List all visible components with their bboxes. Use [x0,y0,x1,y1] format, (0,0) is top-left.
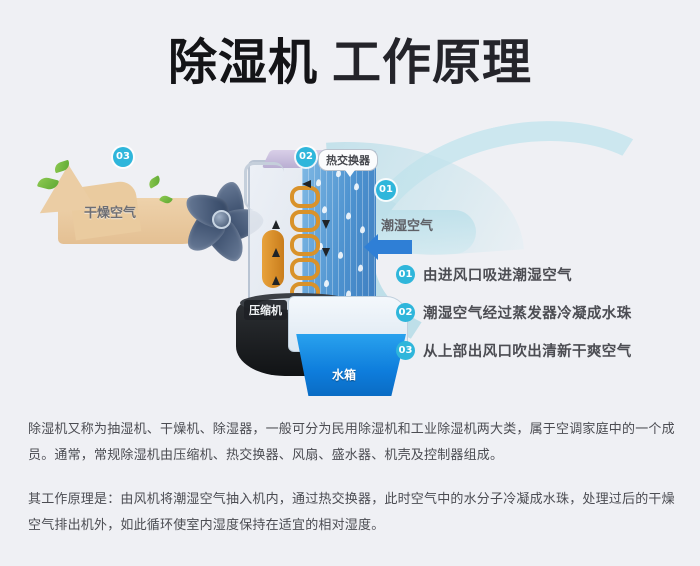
description-block: 除湿机又称为抽湿机、干燥机、除湿器，一般可分为民用除湿机和工业除湿机两大类，属于… [28,417,678,539]
description-paragraph-2: 其工作原理是：由风机将潮湿空气抽入机内，通过热交换器，此时空气中的水分子冷凝成水… [28,487,678,539]
legend-item-03: 03 从上部出风口吹出清新干爽空气 [396,331,686,369]
legend-item-01: 01 由进风口吸进潮湿空气 [396,255,686,293]
legend-badge-02: 02 [396,303,415,322]
legend-text-02: 潮湿空气经过蒸发器冷凝成水珠 [423,302,632,323]
badge-02-heat-exchanger: 02 [296,147,316,167]
refrigerant-coils [258,184,340,306]
page-title-part-a: 除湿机 [168,34,318,91]
legend-item-02: 02 潮湿空气经过蒸发器冷凝成水珠 [396,293,686,331]
page-title-part-b: 工作原理 [332,34,532,91]
description-paragraph-1: 除湿机又称为抽湿机、干燥机、除湿器，一般可分为民用除湿机和工业除湿机两大类，属于… [28,417,678,469]
infographic-page: 除湿机工作原理 干燥空气 03 [0,0,700,566]
page-title: 除湿机工作原理 [0,34,700,92]
legend-badge-03: 03 [396,341,415,360]
heat-exchanger-callout: 热交换器 [318,149,378,171]
legend-badge-01: 01 [396,265,415,284]
moist-air-label: 潮湿空气 [381,215,433,234]
legend-text-03: 从上部出风口吹出清新干爽空气 [423,340,632,361]
dry-air-label: 干燥空气 [84,202,136,221]
compressor-label: 压缩机 [244,300,287,320]
legend-text-01: 由进风口吸进潮湿空气 [423,264,572,285]
process-legend: 01 由进风口吸进潮湿空气 02 潮湿空气经过蒸发器冷凝成水珠 03 从上部出风… [396,255,686,369]
water-tank-label: 水箱 [332,366,356,383]
fan-hub [212,210,231,229]
inlet-airflow-arrow [378,240,412,254]
badge-01-moist-air: 01 [376,180,396,200]
badge-03-dry-air: 03 [113,147,133,167]
